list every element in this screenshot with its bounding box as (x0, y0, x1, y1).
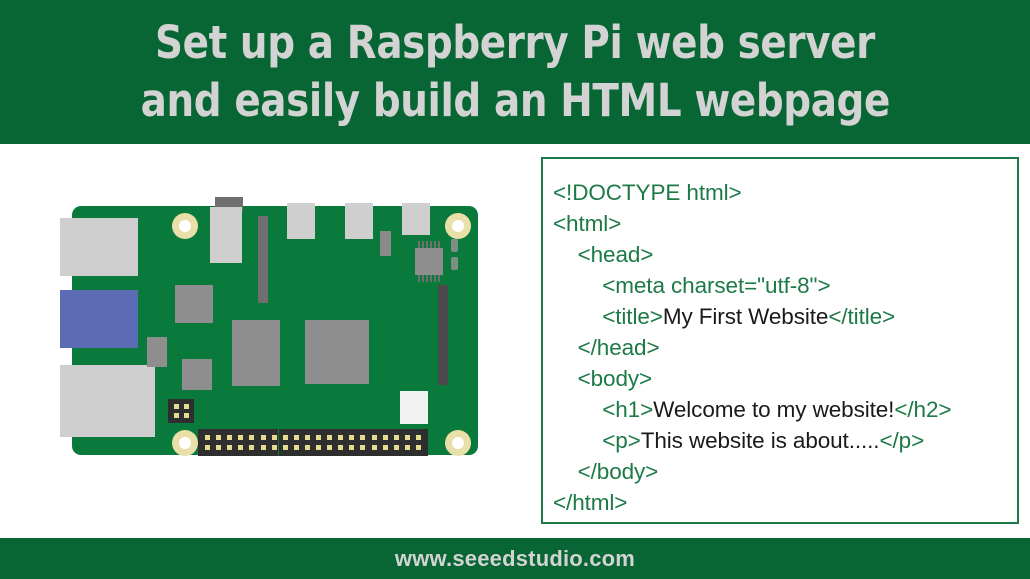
header-banner: Set up a Raspberry Pi web server and eas… (0, 0, 1030, 144)
page-title-line-1: Set up a Raspberry Pi web server (155, 14, 875, 72)
qfp-chip-legs-bottom (418, 275, 440, 282)
code-line: <meta charset="utf-8"> (553, 270, 1017, 301)
code-tag-open: <body> (553, 366, 652, 391)
gpio-header-40-pin (198, 429, 428, 456)
code-line: <!DOCTYPE html> (553, 177, 1017, 208)
ethernet-port-shell (60, 218, 138, 276)
code-line: <body> (553, 363, 1017, 394)
micro-hdmi-port-2 (345, 203, 373, 239)
code-text: This website is about..... (641, 428, 880, 453)
code-tag-open: <h1> (553, 397, 653, 422)
mounting-hole-top-right (445, 213, 471, 239)
display-connector-top (402, 203, 430, 235)
code-tag-close: </h2> (894, 397, 951, 422)
small-component-2 (182, 359, 212, 390)
code-line: </head> (553, 332, 1017, 363)
ethernet-port-blue (60, 290, 138, 348)
soc-chip (232, 320, 280, 386)
status-led-2 (451, 257, 458, 270)
pmic-chip (175, 285, 213, 323)
gpio-header-divider (278, 429, 279, 456)
code-tag-open: </html> (553, 490, 627, 515)
mounting-hole-top-left (172, 213, 198, 239)
usb-port-lower (60, 365, 155, 437)
audio-jack (380, 231, 391, 256)
small-component-1 (147, 337, 167, 367)
code-line: <h1>Welcome to my website!</h2> (553, 394, 1017, 425)
html-code-panel: <!DOCTYPE html> <html> <head> <meta char… (541, 157, 1019, 524)
code-tag-open: <p> (553, 428, 641, 453)
code-line: </body> (553, 456, 1017, 487)
micro-hdmi-port-1 (287, 203, 315, 239)
usb-c-power-connector (210, 207, 242, 263)
mounting-hole-bottom-left (172, 430, 198, 456)
page-title-line-2: and easily build an HTML webpage (140, 72, 889, 130)
footer-bar: www.seeedstudio.com (0, 538, 1030, 579)
status-led-1 (451, 239, 458, 252)
code-tag-open: <!DOCTYPE html> (553, 180, 742, 205)
code-text: Welcome to my website! (653, 397, 894, 422)
display-connector-slot-right (438, 285, 448, 385)
qfp-chip-legs-top (418, 241, 440, 248)
code-tag-open: <head> (553, 242, 653, 267)
code-line: <p>This website is about.....</p> (553, 425, 1017, 456)
footer-url: www.seeedstudio.com (395, 546, 635, 572)
code-tag-open: <meta charset="utf-8"> (553, 273, 830, 298)
ram-chip (305, 320, 369, 384)
code-line: <title>My First Website</title> (553, 301, 1017, 332)
code-line: <head> (553, 239, 1017, 270)
code-tag-close: </p> (879, 428, 924, 453)
code-tag-open: <html> (553, 211, 621, 236)
code-line: </html> (553, 487, 1017, 518)
code-tag-open: <title> (553, 304, 663, 329)
microsd-slot (400, 391, 428, 424)
poe-header-2x2 (168, 399, 194, 423)
code-text: My First Website (663, 304, 829, 329)
camera-connector-slot (258, 216, 268, 303)
mounting-hole-bottom-right (445, 430, 471, 456)
ethernet-controller-chip (415, 248, 443, 275)
code-tag-close: </title> (828, 304, 895, 329)
code-line: <html> (553, 208, 1017, 239)
code-tag-open: </body> (553, 459, 658, 484)
raspberry-pi-board-illustration (55, 185, 485, 480)
code-tag-open: </head> (553, 335, 660, 360)
